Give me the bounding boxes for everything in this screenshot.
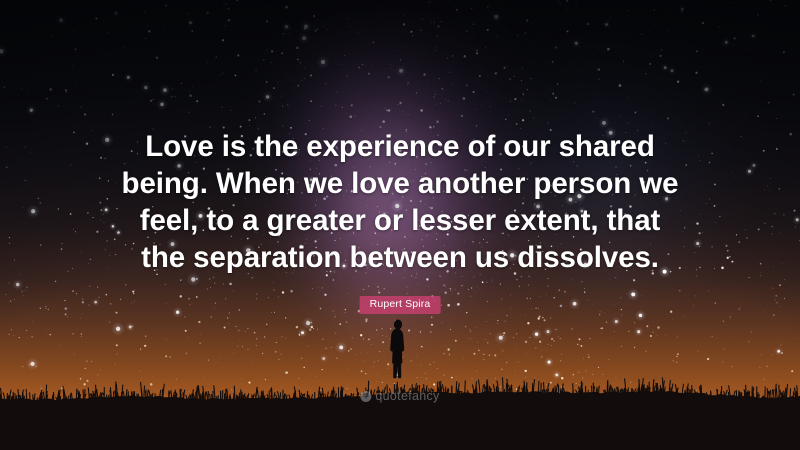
quote-line-1: Love is the experience of our shared	[60, 128, 740, 165]
quotefancy-watermark[interactable]: qf quotefancy	[360, 390, 439, 403]
quotefancy-logo-icon: qf	[360, 391, 371, 402]
quote-line-2: being. When we love another person we	[60, 165, 740, 202]
quote-line-3: feel, to a greater or lesser extent, tha…	[60, 202, 740, 239]
quotefancy-logo-glyph: qf	[363, 393, 368, 399]
quote-text: Love is the experience of our shared bei…	[0, 128, 800, 276]
quote-poster: Love is the experience of our shared bei…	[0, 0, 800, 450]
author-badge[interactable]: Rupert Spira	[360, 296, 441, 314]
person-silhouette	[385, 318, 411, 392]
quotefancy-wordmark: quotefancy	[375, 390, 439, 403]
quote-line-4: the separation between us dissolves.	[60, 239, 740, 276]
